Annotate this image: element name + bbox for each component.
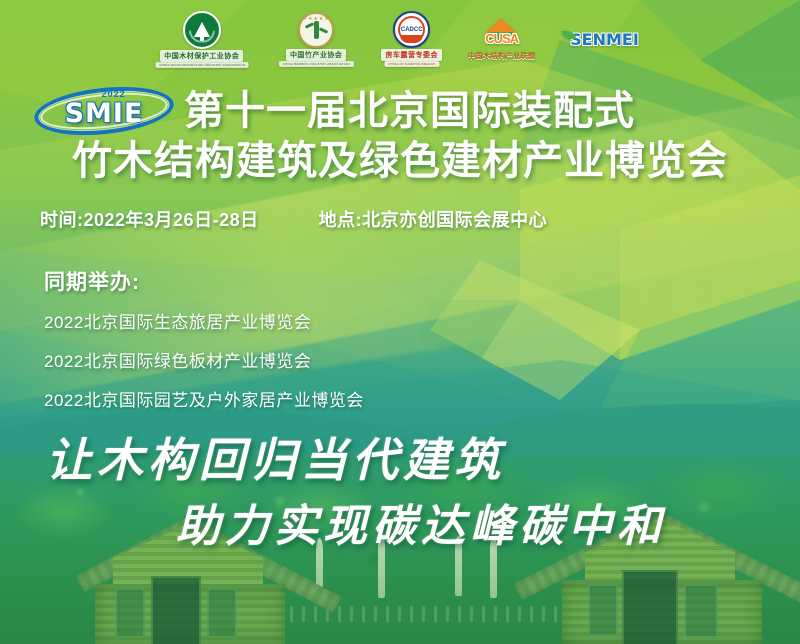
logo-cusa-alliance[interactable]: CUSA 中国木结构产业联盟 <box>468 18 536 61</box>
concurrent-heading: 同期举办: <box>44 266 364 296</box>
cabin-door <box>622 570 678 644</box>
cadcc-roundel-icon: CADCC <box>393 11 430 48</box>
logo-abbr: SENMEI <box>570 30 639 49</box>
slogan-line-1: 让木构回归当代建筑 <box>46 424 505 490</box>
smie-year: 2022 <box>102 89 126 99</box>
logo-label-en: CHINA WOOD PROTECTION INDUSTRY ASSOCIATI… <box>155 62 248 68</box>
house-roof-icon: CUSA <box>473 18 531 50</box>
logo-abbr: CUSA <box>473 31 531 46</box>
event-venue: 地点:北京亦创国际会展中心 <box>319 206 548 232</box>
logo-abbr: CADCC <box>401 27 423 33</box>
logo-label-cn: 中国竹产业协会 <box>286 49 347 61</box>
cabin-window <box>115 588 145 638</box>
cabin-door <box>151 576 201 644</box>
logo-label-cn: 中国木材保护工业协会 <box>160 50 243 62</box>
leaf-wordmark-icon: SENMEI <box>561 24 647 54</box>
logo-label-en: CHINA RV CAMPING BRANCH <box>384 61 439 67</box>
organizer-logo-strip: 中国木材保护工业协会 CHINA WOOD PROTECTION INDUSTR… <box>0 8 800 70</box>
pine-tree-in-circle-icon <box>183 11 221 49</box>
poster-title-block: 2022 SMIE 第十一届北京国际装配式 竹木结构建筑及绿色建材产业博览会 <box>0 88 800 181</box>
logo-label-cn: 中国木结构产业联盟 <box>468 51 536 61</box>
event-meta: 时间:2022年3月26日-28日 地点:北京亦创国际会展中心 <box>40 206 547 232</box>
concurrent-events: 同期举办: 2022北京国际生态旅居产业博览会 2022北京国际绿色板材产业博览… <box>44 266 364 425</box>
page-title-line1: 第十一届北京国际装配式 <box>184 91 635 131</box>
cabin-window <box>207 588 237 638</box>
list-item: 2022北京国际生态旅居产业博览会 <box>44 308 364 333</box>
cabin-window <box>684 584 718 638</box>
concurrent-list: 2022北京国际生态旅居产业博览会 2022北京国际绿色板材产业博览会 2022… <box>44 308 364 411</box>
bamboo-in-circle-icon: ★★★★★ <box>298 12 334 48</box>
smie-emblem: 2022 SMIE <box>34 88 174 134</box>
logo-label-en: CHINA BAMBOO INDUSTRY ASSOCIATION <box>279 61 354 67</box>
logo-senmei[interactable]: SENMEI <box>561 24 647 54</box>
logo-label-cn: 房车露营专委会 <box>381 49 442 61</box>
logo-china-bamboo-industry-association[interactable]: ★★★★★ 中国竹产业协会 CHINA BAMBOO INDUSTRY ASSO… <box>277 12 356 67</box>
cabin-window <box>588 584 618 636</box>
logo-china-wood-protection-industry-association[interactable]: 中国木材保护工业协会 CHINA WOOD PROTECTION INDUSTR… <box>153 11 251 68</box>
logo-rv-camping-committee[interactable]: CADCC 房车露营专委会 CHINA RV CAMPING BRANCH <box>381 11 442 67</box>
list-item: 2022北京国际绿色板材产业博览会 <box>44 347 364 372</box>
event-date: 时间:2022年3月26日-28日 <box>40 206 259 232</box>
exhibition-poster: 中国木材保护工业协会 CHINA WOOD PROTECTION INDUSTR… <box>0 0 800 644</box>
list-item: 2022北京国际园艺及户外家居产业博览会 <box>44 386 364 411</box>
slogan-line-2: 助力实现碳达峰碳中和 <box>176 490 666 554</box>
page-title-line2: 竹木结构建筑及绿色建材产业博览会 <box>0 141 800 181</box>
